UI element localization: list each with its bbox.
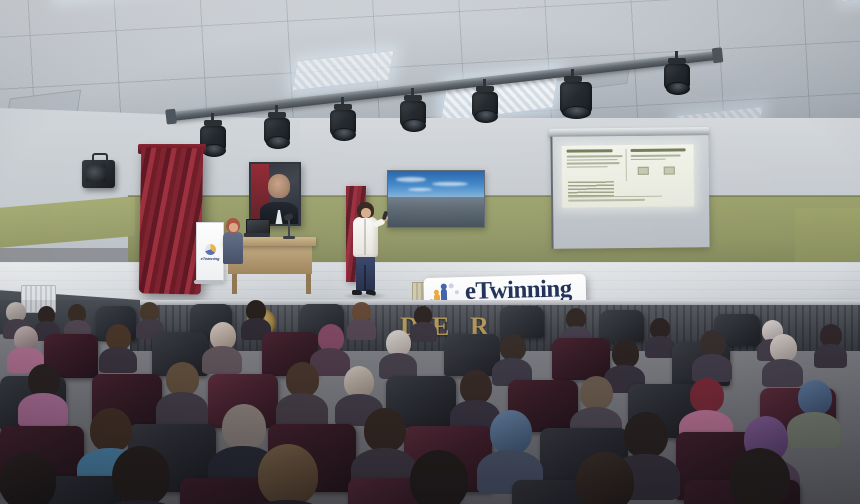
audience-shoulders bbox=[99, 347, 137, 373]
slide-diagram-box bbox=[638, 167, 649, 175]
audience-hair bbox=[258, 444, 318, 504]
audience-hair bbox=[222, 404, 266, 450]
slide-text-line bbox=[567, 162, 620, 164]
landscape-mural-photo bbox=[387, 170, 485, 228]
stage-spotlight bbox=[400, 99, 426, 129]
audience-shoulders bbox=[814, 344, 847, 368]
slide-text-line bbox=[568, 199, 645, 201]
rollup-banner-text: eTwinning bbox=[201, 256, 220, 261]
wall-return-olive-panel bbox=[795, 208, 860, 270]
logo-dot bbox=[455, 290, 459, 294]
spotlight-lens bbox=[332, 128, 356, 141]
audience-hair bbox=[500, 334, 526, 361]
audience-shoulders bbox=[156, 392, 208, 428]
seated-audience bbox=[0, 300, 860, 504]
presenter-shoe bbox=[352, 290, 362, 295]
slide-text-line bbox=[631, 154, 681, 156]
slide-text-line bbox=[568, 195, 662, 198]
rollup-banner-base bbox=[194, 280, 224, 284]
auditorium-seat bbox=[500, 306, 544, 338]
spotlight-barndoor bbox=[564, 76, 582, 82]
audience-hair bbox=[460, 370, 492, 404]
slide-footer bbox=[568, 195, 688, 203]
stage-spotlight bbox=[330, 108, 356, 138]
spotlight-barndoor bbox=[668, 58, 686, 64]
audience-hair bbox=[286, 362, 319, 397]
audience-hair bbox=[612, 340, 639, 368]
stage-curtain-left bbox=[139, 147, 204, 294]
spotlight-lens bbox=[666, 82, 690, 95]
slide-heading bbox=[567, 149, 613, 152]
spotlight-lens bbox=[266, 136, 290, 149]
mural-cloud bbox=[432, 182, 468, 186]
seated-host-face bbox=[229, 223, 238, 232]
audience-hair bbox=[364, 408, 406, 452]
slide-text-line bbox=[567, 155, 623, 157]
audience-hair bbox=[410, 450, 468, 504]
spotlight-barndoor bbox=[334, 104, 352, 110]
audience-shoulders bbox=[347, 319, 376, 340]
audience-shoulders bbox=[762, 359, 803, 387]
audience-shoulders bbox=[202, 346, 242, 374]
audience-headscarf bbox=[770, 334, 797, 362]
microphone-base bbox=[283, 236, 295, 239]
audience-shoulders bbox=[18, 393, 68, 427]
audience-hair bbox=[580, 376, 613, 410]
slide-text-line bbox=[567, 159, 618, 161]
slide-text-line bbox=[631, 158, 666, 160]
spotlight-barndoor bbox=[268, 112, 286, 118]
standing-presenter bbox=[348, 202, 382, 298]
stage-spotlight bbox=[560, 80, 592, 116]
desk-leg bbox=[232, 274, 237, 294]
truss-end-cap bbox=[712, 47, 724, 63]
etwinning-logo-small bbox=[205, 244, 216, 255]
slide-diagram-box bbox=[664, 167, 675, 175]
spotlight-barndoor bbox=[204, 120, 222, 126]
projected-slide bbox=[562, 144, 695, 207]
desk-leg bbox=[306, 274, 311, 294]
audience-hair bbox=[700, 330, 726, 357]
audience-hair bbox=[576, 452, 634, 504]
stage-spotlight bbox=[264, 116, 290, 146]
stage-spotlight bbox=[664, 62, 690, 92]
laptop-base bbox=[244, 233, 270, 237]
presenter-shoe bbox=[366, 289, 377, 296]
audience-hair bbox=[112, 446, 170, 504]
seated-host-body bbox=[223, 232, 243, 264]
mural-landscape bbox=[388, 197, 484, 227]
spotlight-lens bbox=[402, 119, 426, 132]
etwinning-rollup-banner: eTwinning bbox=[196, 222, 224, 282]
audience-hair bbox=[730, 448, 790, 504]
slide-heading bbox=[631, 148, 686, 152]
seated-host bbox=[222, 218, 244, 276]
presenter-jeans bbox=[356, 255, 375, 291]
audience-headscarf bbox=[490, 410, 532, 454]
slide-column-right bbox=[631, 148, 689, 162]
audience-hair bbox=[166, 362, 199, 396]
audience-hair bbox=[90, 408, 132, 452]
slide-divider bbox=[626, 149, 627, 181]
portrait-head bbox=[268, 174, 290, 198]
wall-speaker bbox=[82, 160, 115, 188]
auditorium-seat bbox=[552, 338, 610, 380]
truss-end-cap bbox=[165, 109, 177, 125]
spotlight-barndoor bbox=[476, 86, 494, 92]
auditorium-seat bbox=[600, 310, 644, 342]
stage-spotlight bbox=[472, 90, 498, 120]
spotlight-lens bbox=[562, 106, 591, 119]
audience-hair bbox=[0, 452, 56, 504]
mural-cloud bbox=[408, 188, 432, 191]
slide-text-line bbox=[567, 166, 608, 168]
logo-dot bbox=[449, 283, 454, 288]
wall-seam bbox=[128, 195, 860, 197]
audience-hair bbox=[690, 378, 724, 413]
mural-cloud bbox=[396, 177, 426, 182]
audience-hair bbox=[624, 412, 668, 458]
desk-microphone bbox=[288, 218, 290, 238]
spotlight-lens bbox=[474, 110, 498, 123]
audience-shoulders bbox=[787, 412, 841, 448]
slide-column-left bbox=[567, 149, 625, 170]
audience-headscarf bbox=[798, 380, 832, 415]
spotlight-barndoor bbox=[404, 95, 422, 101]
presenter-face bbox=[361, 208, 371, 218]
projection-screen bbox=[550, 135, 709, 249]
audience-shoulders bbox=[410, 322, 437, 342]
audience-shoulders bbox=[645, 336, 675, 358]
auditorium-photo: eTwinning eTwinni bbox=[0, 0, 860, 504]
